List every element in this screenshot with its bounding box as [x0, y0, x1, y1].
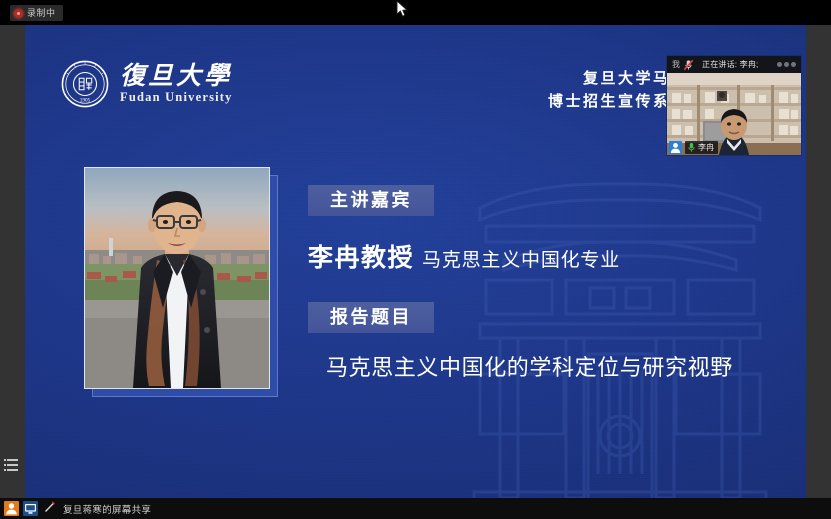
microphone-active-icon [687, 142, 696, 153]
screen-share-monitor-icon[interactable] [23, 501, 38, 516]
participant-name: 李冉 [698, 142, 714, 153]
slide-text-column: 主讲嘉宾 李冉教授 马克思主义中国化专业 报告题目 马克思主义中国化的学科定位与… [308, 185, 748, 382]
video-panel-header: 我 正在讲话: 李冉; [667, 56, 801, 73]
speaking-status-text: 正在讲话: 李冉; [702, 59, 758, 70]
logo-name-cn: 復旦大學 [120, 64, 233, 90]
desktop-root: 1905 復旦大學 Fudan University 复旦大学马克 博士招生宣传… [0, 0, 831, 519]
recording-label: 录制中 [27, 9, 56, 18]
topic-badge: 报告题目 [308, 302, 434, 333]
top-bar: 录制中 [0, 0, 831, 25]
share-arrow-icon [43, 500, 56, 518]
participant-avatar-icon [669, 141, 682, 154]
participant-name-chip: 李冉 [685, 141, 718, 154]
fudan-logo-block: 1905 復旦大學 Fudan University [61, 60, 233, 108]
topic-badge-wrap: 报告题目 [308, 302, 748, 333]
fudan-university-seal-icon: 1905 [61, 60, 109, 108]
speaker-name: 李冉教授 [308, 238, 414, 274]
taskbar: 复旦蒋寒的屏幕共享 [0, 498, 831, 519]
right-sidebar-rail [806, 25, 831, 498]
list-menu-icon[interactable] [3, 457, 21, 473]
recording-indicator[interactable]: 录制中 [10, 5, 63, 21]
video-panel-footer: 李冉 [667, 140, 718, 155]
microphone-muted-icon[interactable] [683, 59, 694, 71]
record-dot-icon [14, 9, 23, 18]
topic-title: 马克思主义中国化的学科定位与研究视野 [326, 355, 748, 381]
taskbar-share-label: 复旦蒋寒的屏幕共享 [63, 502, 151, 516]
participants-icon[interactable] [4, 501, 19, 516]
svg-text:1905: 1905 [80, 97, 91, 103]
left-sidebar-rail [0, 25, 25, 498]
speaker-line: 李冉教授 马克思主义中国化专业 [308, 238, 748, 274]
more-options-icon[interactable] [777, 62, 796, 67]
self-view-label: 我 [672, 59, 680, 70]
active-speaker-video-panel[interactable]: 我 正在讲话: 李冉; [666, 55, 802, 156]
logo-name-en: Fudan University [120, 91, 233, 104]
speaker-major: 马克思主义中国化专业 [422, 245, 620, 272]
speaker-portrait-photo [84, 167, 270, 389]
speaker-badge: 主讲嘉宾 [308, 185, 434, 216]
speaker-photo-frame [84, 167, 276, 395]
